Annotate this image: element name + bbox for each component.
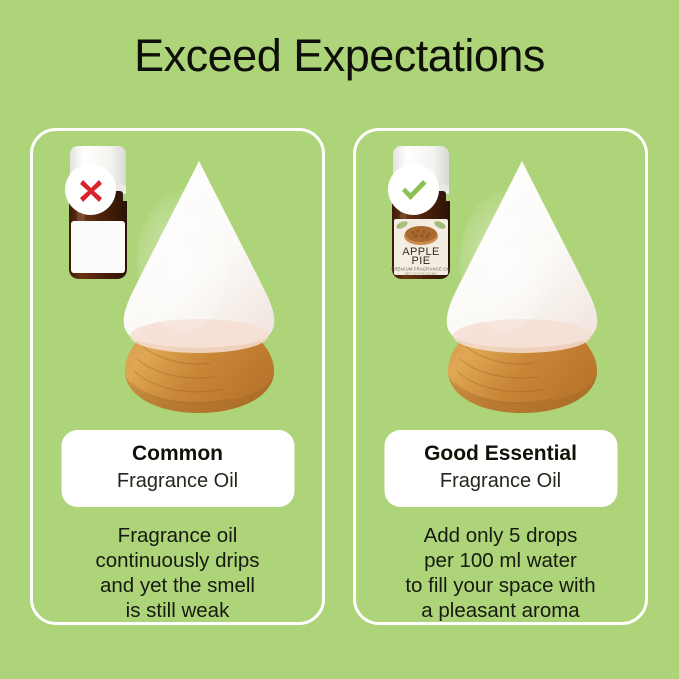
- card-good-essential: APPLE PIE PREMIUM FRAGRANCE OIL NET 0.5 …: [353, 128, 648, 625]
- card-common: Common Fragrance Oil Fragrance oil conti…: [30, 128, 325, 625]
- label-pill-common: Common Fragrance Oil: [61, 430, 294, 507]
- diffuser-illustration: [447, 161, 598, 413]
- badge-cross: [65, 164, 116, 215]
- pill-subtitle: Fragrance Oil: [67, 469, 288, 493]
- pill-title: Good Essential: [390, 442, 611, 466]
- pill-title: Common: [67, 442, 288, 466]
- check-icon: [397, 173, 431, 207]
- bottle-label-net: NET 0.5 fl OZ (15 ML): [405, 272, 438, 276]
- comparison-infographic: Exceed Expectations: [0, 0, 679, 679]
- pill-subtitle: Fragrance Oil: [390, 469, 611, 493]
- cross-icon: [76, 175, 106, 205]
- bottle-label-line2: PIE: [412, 255, 431, 267]
- label-pill-good-essential: Good Essential Fragrance Oil: [384, 430, 617, 507]
- card-body-common: Fragrance oil continuously drips and yet…: [41, 523, 314, 623]
- card-body-good-essential: Add only 5 drops per 100 ml water to fil…: [364, 523, 637, 623]
- badge-check: [388, 164, 439, 215]
- page-title: Exceed Expectations: [0, 31, 679, 81]
- diffuser-illustration: [124, 161, 275, 413]
- apple-pie-graphic: [404, 226, 438, 245]
